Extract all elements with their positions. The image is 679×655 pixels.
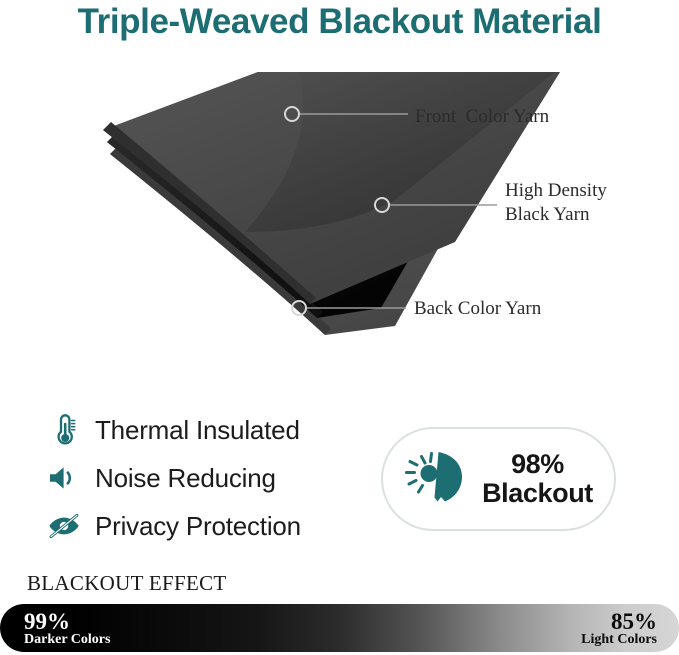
feature-label: Thermal Insulated	[95, 415, 300, 446]
blackout-badge-text: 98% Blackout	[482, 450, 593, 508]
page-title: Triple-Weaved Blackout Material	[0, 2, 679, 42]
blackout-percent: 98%	[511, 449, 564, 479]
feature-privacy-protection: Privacy Protection	[46, 503, 376, 549]
light-colors-percent: 85%	[581, 610, 657, 633]
darker-colors-stat: 99% Darker Colors	[24, 610, 110, 648]
feature-label: Noise Reducing	[95, 463, 276, 494]
darker-colors-percent: 99%	[24, 610, 110, 633]
light-colors-label: Light Colors	[581, 633, 657, 647]
sun-behind-curtain-icon	[404, 448, 470, 510]
darker-colors-label: Darker Colors	[24, 633, 110, 647]
blackout-label: Blackout	[482, 478, 593, 508]
label-high-density-line2: Black Yarn	[505, 204, 589, 225]
label-high-density-black-yarn: High DensityBlack Yarn	[505, 179, 607, 227]
feature-thermal-insulated: Thermal Insulated	[46, 407, 376, 453]
speaker-icon	[46, 460, 82, 496]
feature-list: Thermal Insulated Noise Reducing Privacy…	[46, 407, 376, 551]
label-front-color-yarn: Front Color Yarn	[415, 105, 549, 129]
blackout-effect-heading: BLACKOUT EFFECT	[27, 571, 227, 596]
feature-noise-reducing: Noise Reducing	[46, 455, 376, 501]
thermometer-icon	[46, 412, 82, 448]
label-high-density-line1: High Density	[505, 180, 607, 201]
feature-label: Privacy Protection	[95, 511, 301, 542]
eye-off-icon	[46, 508, 82, 544]
label-back-color-yarn: Back Color Yarn	[414, 297, 541, 321]
blackout-badge: 98% Blackout	[381, 427, 616, 531]
blackout-effect-gradient-bar: 99% Darker Colors 85% Light Colors	[0, 604, 679, 652]
light-colors-stat: 85% Light Colors	[581, 610, 657, 648]
